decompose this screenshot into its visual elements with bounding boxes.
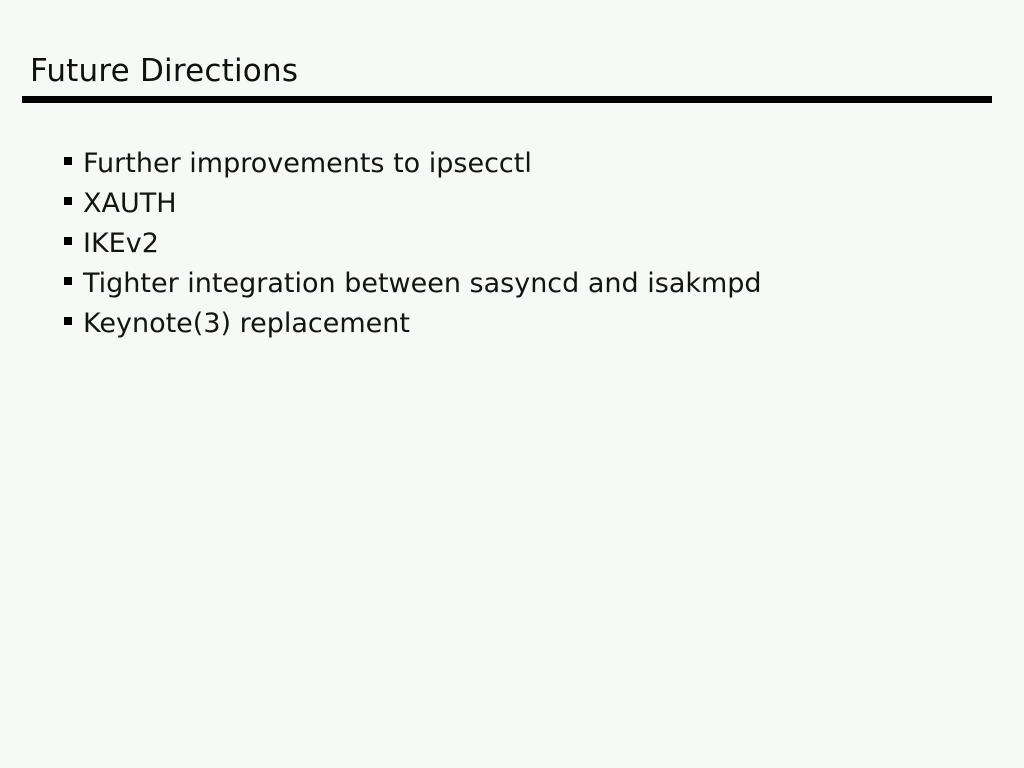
presentation-slide: Future Directions Further improvements t… [0, 0, 1024, 768]
list-item: Keynote(3) replacement [64, 304, 994, 344]
list-item-label: IKEv2 [83, 224, 159, 264]
list-item-label: Tighter integration between sasyncd and … [83, 264, 762, 304]
square-bullet-icon [64, 317, 72, 325]
list-item-label: Keynote(3) replacement [83, 304, 410, 344]
square-bullet-icon [64, 157, 72, 165]
list-item: XAUTH [64, 184, 994, 224]
list-item-label: Further improvements to ipsecctl [83, 144, 532, 184]
list-item: Tighter integration between sasyncd and … [64, 264, 994, 304]
list-item: IKEv2 [64, 224, 994, 264]
square-bullet-icon [64, 237, 72, 245]
bullet-list: Further improvements to ipsecctl XAUTH I… [64, 144, 994, 344]
square-bullet-icon [64, 277, 72, 285]
page-title: Future Directions [30, 52, 298, 90]
square-bullet-icon [64, 197, 72, 205]
list-item: Further improvements to ipsecctl [64, 144, 994, 184]
title-divider [22, 96, 992, 103]
list-item-label: XAUTH [83, 184, 177, 224]
